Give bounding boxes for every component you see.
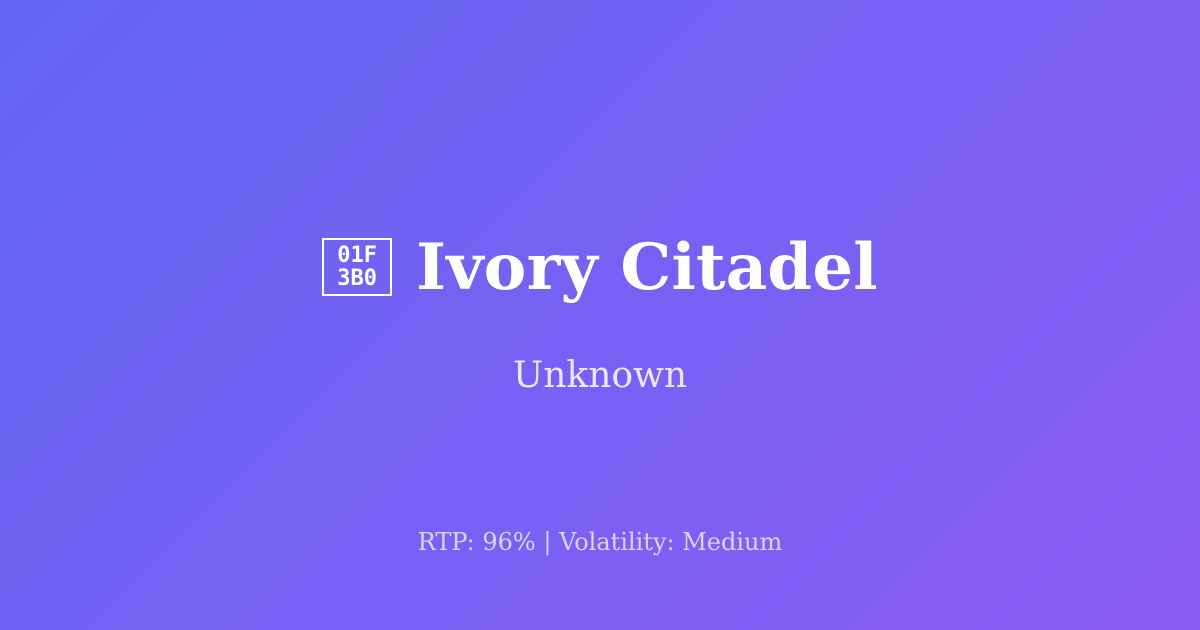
title-row: 01F 3B0 Ivory Citadel <box>322 233 878 302</box>
tofu-hex-bottom: 3B0 <box>337 267 377 290</box>
game-og-card: 01F 3B0 Ivory Citadel Unknown RTP: 96% |… <box>0 0 1200 630</box>
game-stats: RTP: 96% | Volatility: Medium <box>0 528 1200 557</box>
slot-machine-icon: 01F 3B0 <box>322 238 392 296</box>
game-provider: Unknown <box>513 354 687 397</box>
tofu-hex-top: 01F <box>337 244 377 267</box>
page-title: Ivory Citadel <box>416 233 878 302</box>
